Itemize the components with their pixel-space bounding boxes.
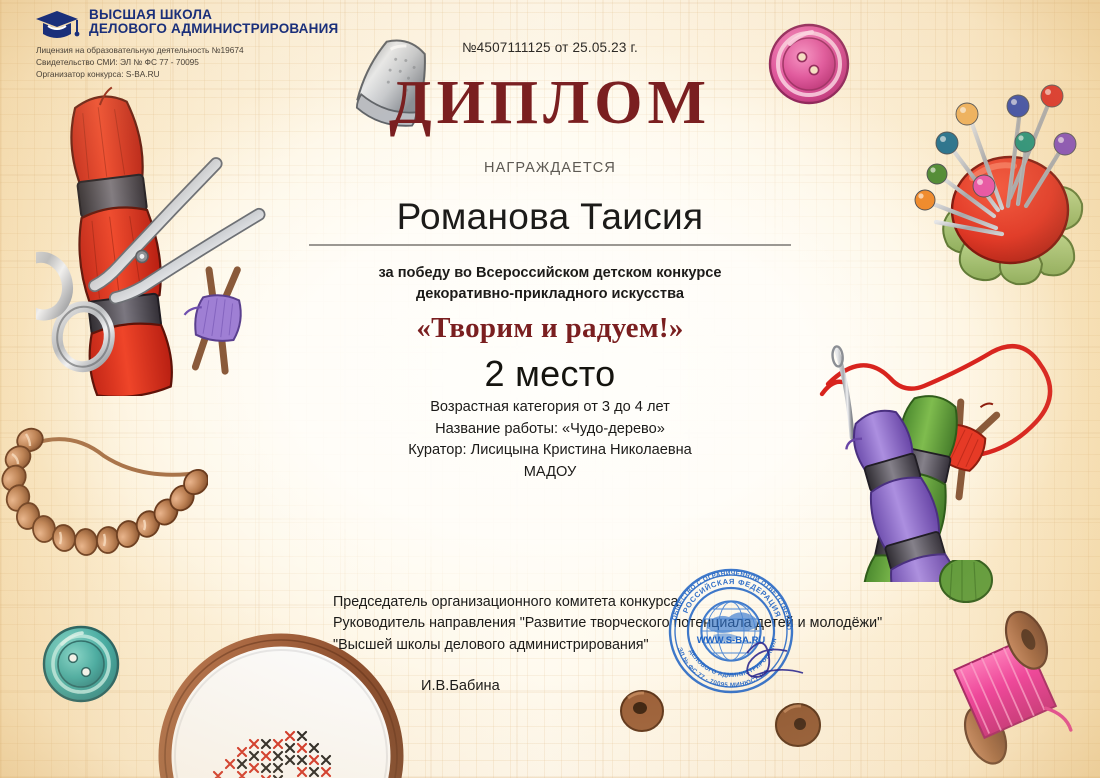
awarded-label: НАГРАЖДАЕТСЯ xyxy=(270,160,830,176)
recipient-name: Романова Таисия xyxy=(270,196,830,238)
license-line-2: Свидетельство СМИ: ЭЛ № ФС 77 - 70095 xyxy=(36,57,344,69)
signature-line-1: Председатель организационного комитета к… xyxy=(333,592,973,613)
wooden-bead-icon xyxy=(772,700,824,750)
graduation-cap-icon xyxy=(34,10,80,40)
logo-line-1: ВЫСШАЯ ШКОЛА xyxy=(89,8,338,22)
page-title: ДИПЛОМ xyxy=(270,72,830,134)
document-number: №4507111125 от 25.05.23 г. xyxy=(0,40,1100,55)
award-reason: за победу во Всероссийском детском конку… xyxy=(270,263,830,304)
award-reason-line-1: за победу во Всероссийском детском конку… xyxy=(270,263,830,284)
age-category: Возрастная категория от 3 до 4 лет xyxy=(270,397,830,418)
signature-block: Председатель организационного комитета к… xyxy=(333,592,973,698)
scissors-icon xyxy=(36,86,276,396)
diploma-canvas: ВЫСШАЯ ШКОЛА ДЕЛОВОГО АДМИНИСТРИРОВАНИЯ … xyxy=(0,0,1100,778)
needle-and-floss-icon xyxy=(818,328,1100,582)
curator-name: Куратор: Лисицына Кристина Николаевна xyxy=(270,440,830,461)
award-details: Возрастная категория от 3 до 4 лет Назва… xyxy=(270,397,830,483)
logo-line-2: ДЕЛОВОГО АДМИНИСТРИРОВАНИЯ xyxy=(89,22,338,36)
pincushion-icon xyxy=(898,58,1100,293)
signer-name: И.В.Бабина xyxy=(421,676,973,698)
certificate-body: ДИПЛОМ НАГРАЖДАЕТСЯ Романова Таисия за п… xyxy=(270,72,830,483)
contest-name: «Творим и радуем!» xyxy=(270,312,830,345)
award-reason-line-2: декоративно-прикладного искусства xyxy=(270,284,830,305)
recipient-name-rule xyxy=(309,244,791,246)
wooden-bead-chain-icon xyxy=(0,424,208,574)
signature-line-2: Руководитель направления "Развитие творч… xyxy=(333,613,973,634)
teal-button-icon xyxy=(38,620,124,704)
signature-line-3: "Высшей школы делового администрирования… xyxy=(333,635,973,656)
organization-name: МАДОУ xyxy=(270,462,830,483)
work-title: Название работы: «Чудо-дерево» xyxy=(270,419,830,440)
award-place: 2 место xyxy=(270,353,830,395)
